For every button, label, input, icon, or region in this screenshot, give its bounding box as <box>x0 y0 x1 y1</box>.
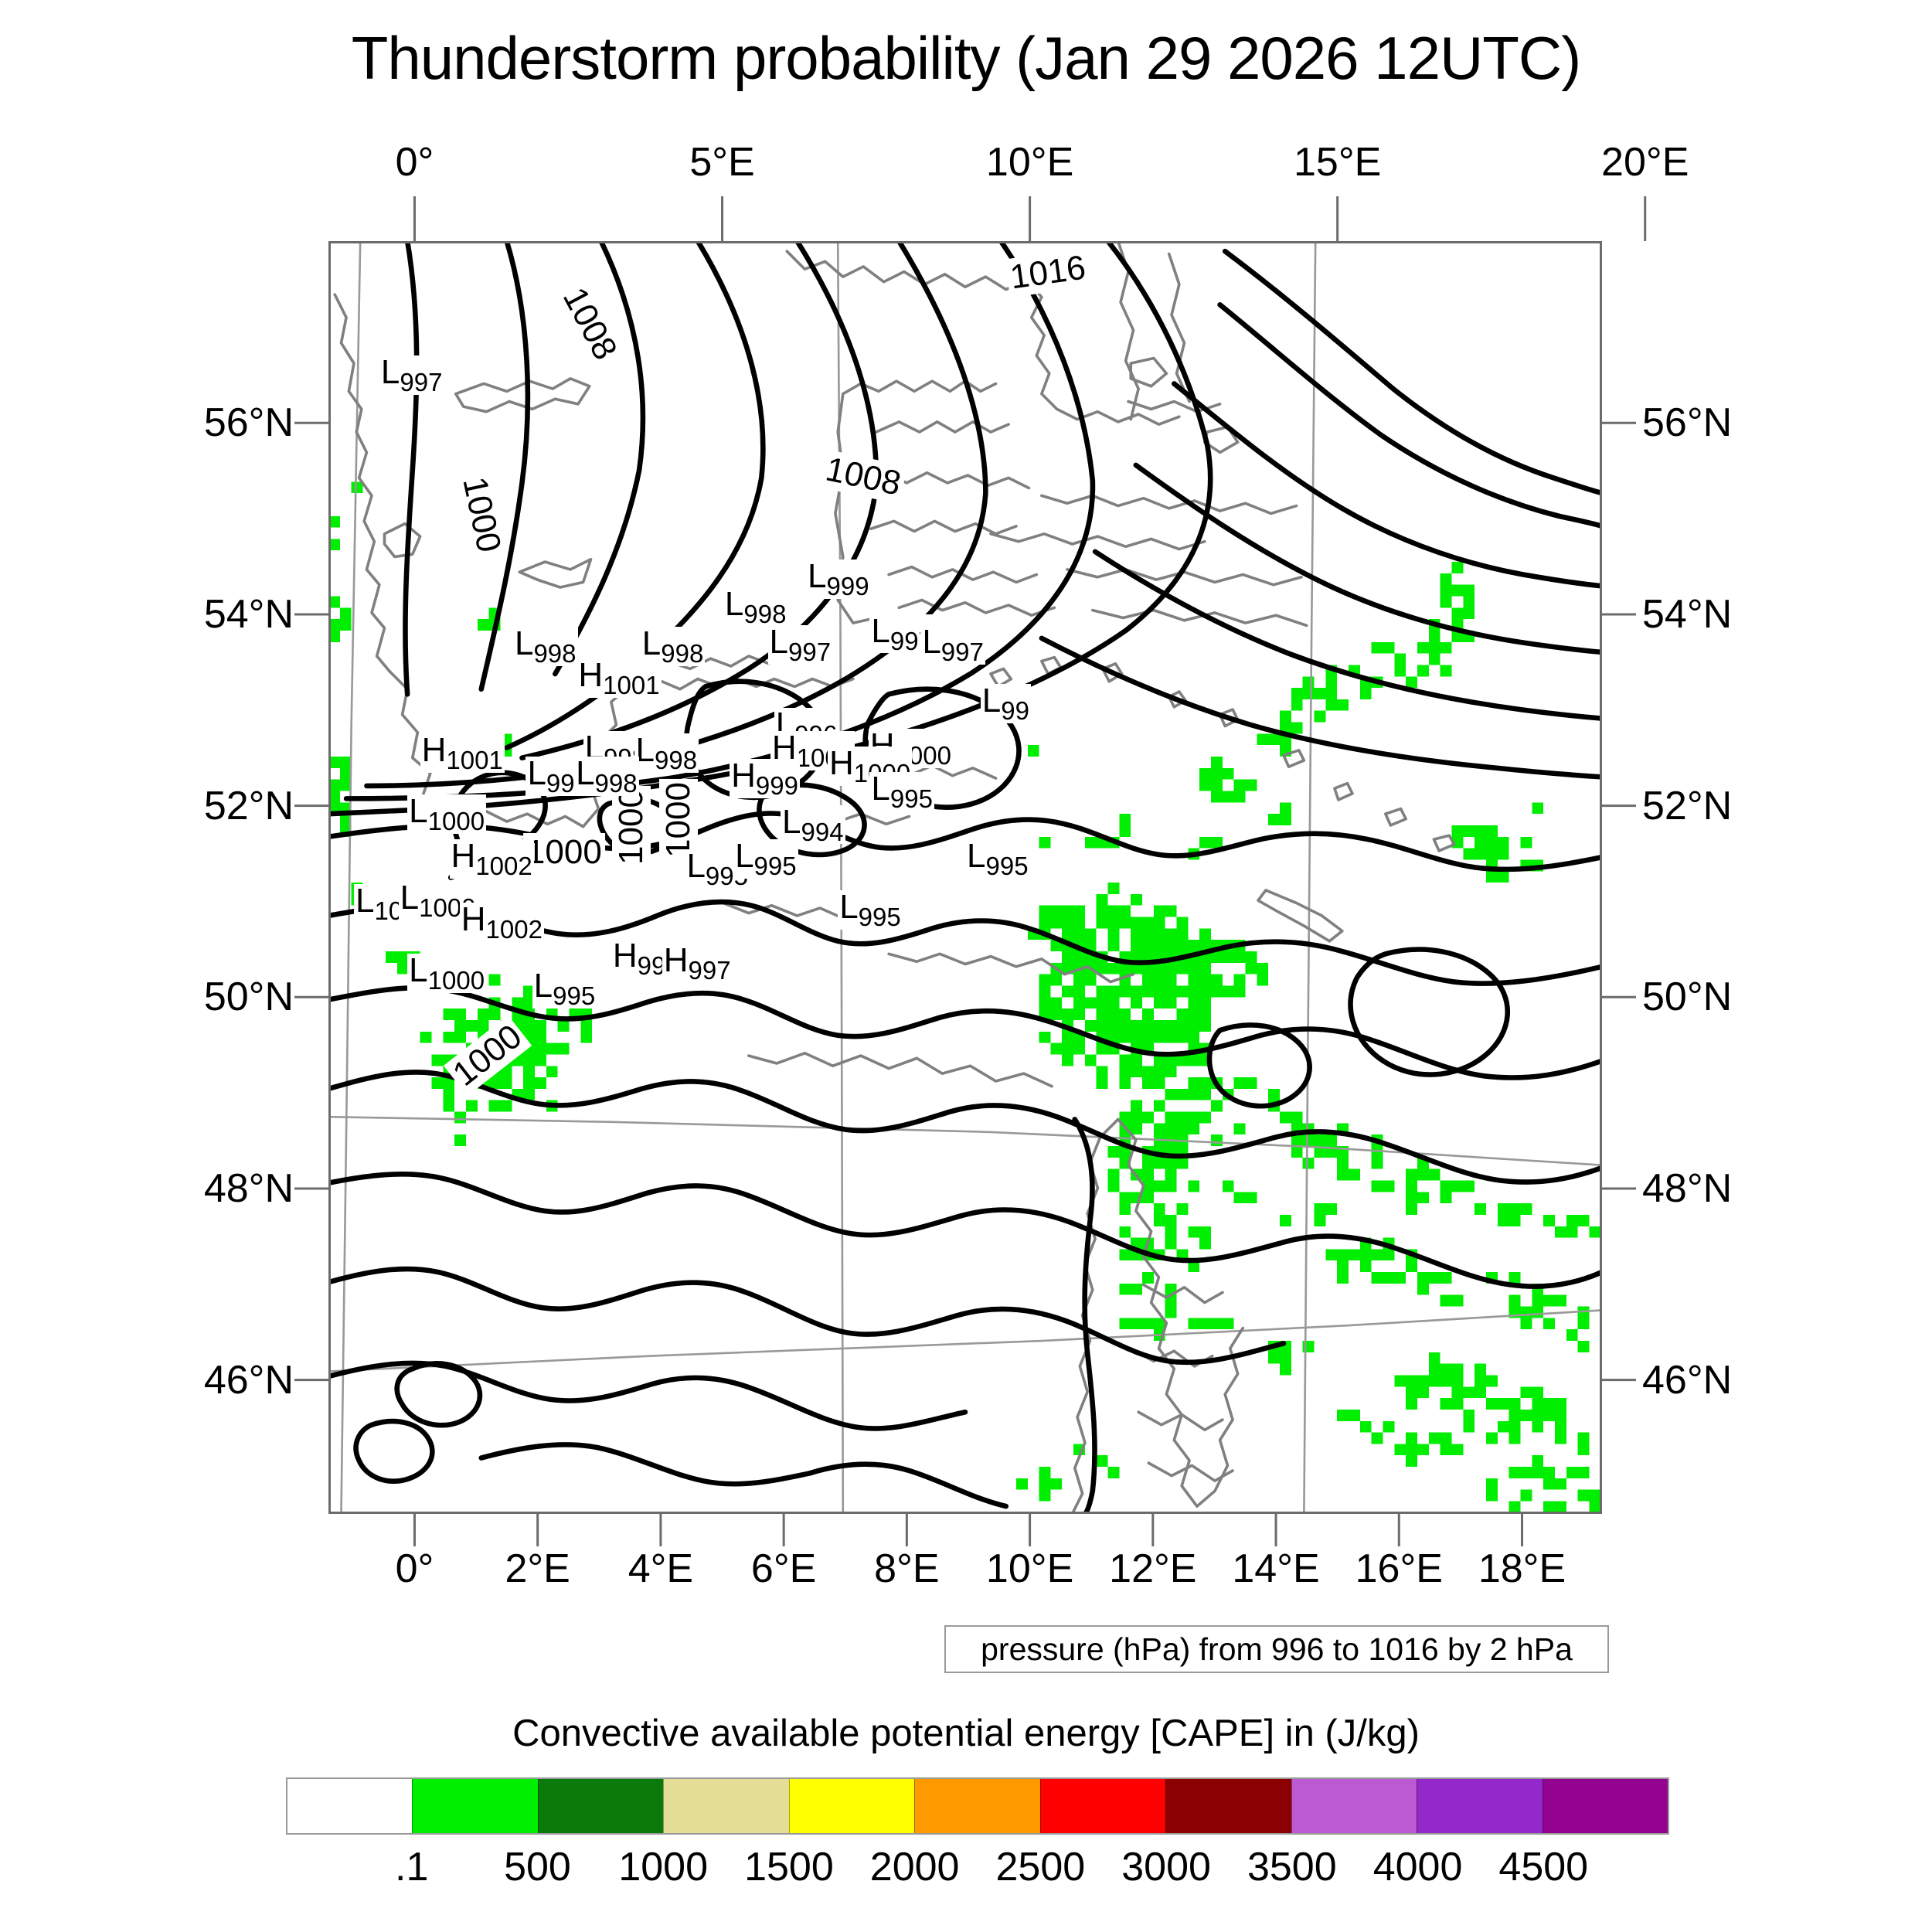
axis-tick-bottom-8: 16°E <box>1355 1546 1443 1592</box>
colorbar-segment-2[interactable] <box>538 1779 663 1833</box>
map-svg <box>328 241 1602 1514</box>
colorbar-segment-9[interactable] <box>1417 1779 1542 1833</box>
axis-tick-bottom-1: 2°E <box>505 1546 570 1592</box>
colorbar-tick-1: 500 <box>504 1844 571 1890</box>
axis-tick-bottom-4: 8°E <box>874 1546 939 1592</box>
axis-tick-bottom-7: 14°E <box>1232 1546 1319 1592</box>
colorbar-segment-1[interactable] <box>412 1779 537 1833</box>
axis-tick-right-5: 46°N <box>1642 1357 1732 1403</box>
axis-tick-top-4: 20°E <box>1601 139 1689 185</box>
map-figure: Thunderstorm probability (Jan 29 2026 12… <box>0 0 1932 1932</box>
colorbar-tick-0: .1 <box>395 1844 428 1890</box>
colorbar-segment-5[interactable] <box>914 1779 1039 1833</box>
axis-tick-left-2: 52°N <box>116 783 294 829</box>
axis-tick-bottom-9: 18°E <box>1478 1546 1566 1592</box>
cape-caption: Convective available potential energy [C… <box>0 1712 1932 1755</box>
axis-tick-right-4: 48°N <box>1642 1165 1732 1212</box>
colorbar-segment-10[interactable] <box>1543 1779 1668 1833</box>
axis-tick-top-2: 10°E <box>986 139 1073 185</box>
axis-tick-right-0: 56°N <box>1642 400 1732 446</box>
map-canvas[interactable] <box>328 241 1602 1514</box>
pressure-note: pressure (hPa) from 996 to 1016 by 2 hPa <box>944 1625 1609 1673</box>
axis-tick-right-3: 50°N <box>1642 974 1732 1020</box>
axis-tick-right-1: 54°N <box>1642 591 1732 638</box>
colorbar-segment-7[interactable] <box>1165 1779 1291 1833</box>
axis-tick-bottom-2: 4°E <box>628 1546 693 1592</box>
axis-tick-bottom-0: 0° <box>396 1546 434 1592</box>
colorbar-segment-6[interactable] <box>1040 1779 1165 1833</box>
colorbar-segment-8[interactable] <box>1291 1779 1417 1833</box>
axis-tick-bottom-6: 12°E <box>1109 1546 1196 1592</box>
axis-tick-left-1: 54°N <box>116 591 294 638</box>
colorbar-segment-4[interactable] <box>789 1779 914 1833</box>
axis-tick-top-3: 15°E <box>1294 139 1381 185</box>
colorbar-segment-0[interactable] <box>287 1779 412 1833</box>
axis-tick-right-2: 52°N <box>1642 783 1732 829</box>
colorbar-tick-2: 1000 <box>618 1844 708 1890</box>
axis-tick-left-5: 46°N <box>116 1357 294 1403</box>
page-title: Thunderstorm probability (Jan 29 2026 12… <box>0 23 1932 94</box>
colorbar-segment-3[interactable] <box>663 1779 788 1833</box>
axis-tick-bottom-3: 6°E <box>751 1546 816 1592</box>
colorbar-tick-4: 2000 <box>870 1844 960 1890</box>
colorbar-tick-9: 4500 <box>1498 1844 1588 1890</box>
colorbar-tick-7: 3500 <box>1247 1844 1337 1890</box>
axis-tick-left-4: 48°N <box>116 1165 294 1212</box>
cape-colorbar[interactable] <box>286 1777 1669 1835</box>
colorbar-tick-3: 1500 <box>744 1844 834 1890</box>
colorbar-tick-6: 3000 <box>1121 1844 1211 1890</box>
axis-tick-top-1: 5°E <box>689 139 754 185</box>
axis-tick-bottom-5: 10°E <box>986 1546 1073 1592</box>
axis-tick-left-3: 50°N <box>116 974 294 1020</box>
axis-tick-top-0: 0° <box>396 139 434 185</box>
colorbar-tick-8: 4000 <box>1373 1844 1463 1890</box>
axis-tick-left-0: 56°N <box>116 400 294 446</box>
cape-colorbar-ticks: .150010001500200025003000350040004500 <box>286 1844 1669 1898</box>
colorbar-tick-5: 2500 <box>996 1844 1086 1890</box>
